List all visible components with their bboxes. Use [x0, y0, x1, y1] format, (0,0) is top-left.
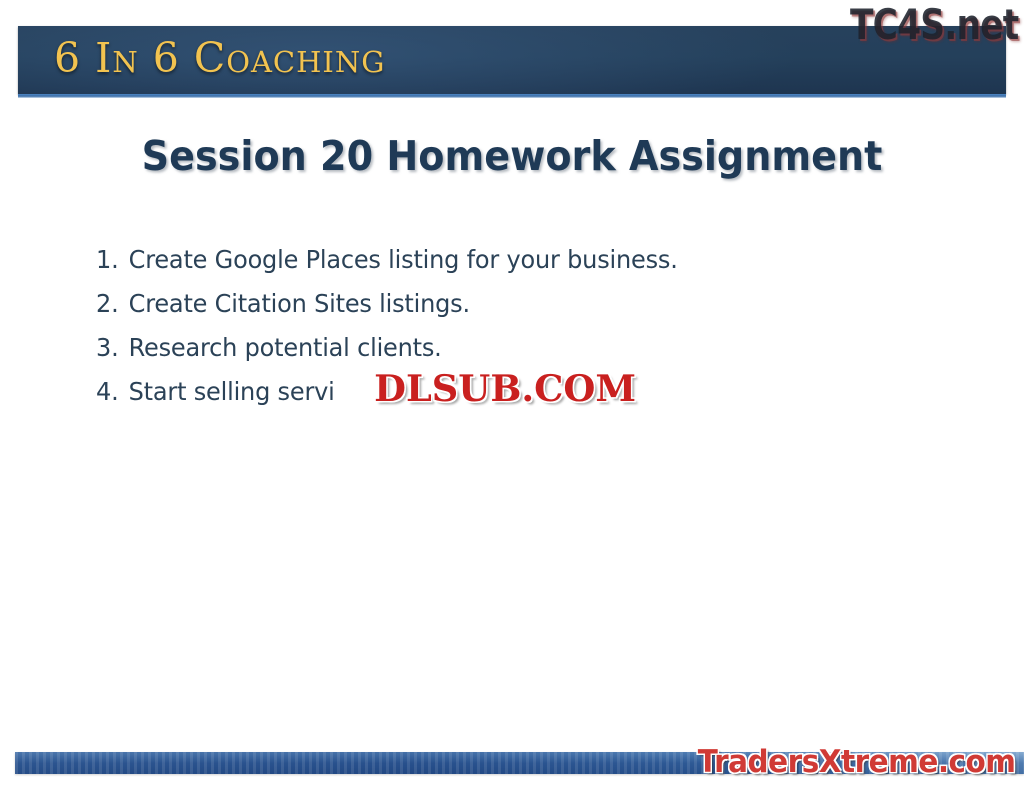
list-item-label: Start selling servi: [129, 377, 335, 406]
list-item-number: 4.: [96, 370, 129, 414]
list-item: 1.Create Google Places listing for your …: [96, 238, 883, 282]
task-list: 1.Create Google Places listing for your …: [96, 238, 916, 414]
header-banner-underline: [18, 94, 1006, 98]
list-item-label: Research potential clients.: [129, 333, 442, 362]
page-title: Session 20 Homework Assignment: [36, 132, 988, 180]
footer-bar: [15, 752, 1024, 774]
list-item-number: 2.: [96, 282, 129, 326]
list-item-number: 1.: [96, 238, 129, 282]
list-item: 2.Create Citation Sites listings.: [96, 282, 883, 326]
list-item: 4.Start selling servi: [96, 370, 883, 414]
list-item-label: Create Citation Sites listings.: [129, 289, 470, 318]
list-item-number: 3.: [96, 326, 129, 370]
brand-title: 6 In 6 Coaching: [54, 34, 385, 82]
slide-canvas: 6 In 6 Coaching TC4S.net Session 20 Home…: [0, 0, 1024, 791]
header-banner: 6 In 6 Coaching: [18, 26, 1006, 94]
list-item-label: Create Google Places listing for your bu…: [129, 245, 678, 274]
list-item: 3.Research potential clients.: [96, 326, 883, 370]
